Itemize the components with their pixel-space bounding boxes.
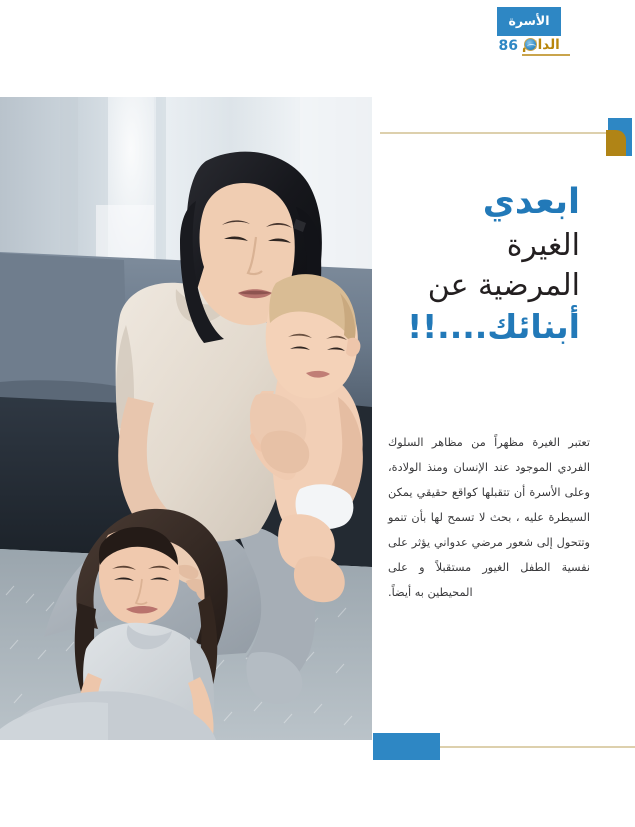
logo-subtext-dots bbox=[522, 54, 570, 57]
bottom-blue-block bbox=[373, 733, 440, 760]
title-line-3: المرضية عن bbox=[382, 271, 580, 302]
bottom-gold-rule bbox=[440, 746, 635, 748]
top-corner-ornament bbox=[608, 118, 634, 158]
article-photo bbox=[0, 97, 372, 740]
section-label: الأسرة bbox=[508, 15, 549, 28]
title-line-2: الغيرة bbox=[382, 231, 580, 262]
globe-icon bbox=[524, 38, 537, 51]
masthead-logo-row: الدائم 86 bbox=[492, 36, 570, 56]
article-photo-illustration bbox=[0, 97, 372, 740]
magazine-logo: الدائم bbox=[522, 37, 570, 56]
magazine-page: الأسرة الدائم 86 bbox=[0, 0, 635, 827]
top-gold-rule bbox=[380, 132, 612, 134]
masthead: الأسرة الدائم 86 bbox=[463, 0, 635, 86]
article-text-column: ابعدي الغيرة المرضية عن أبنائك....!! تعت… bbox=[378, 97, 635, 777]
article-body: تعتبر الغيرة مظهراً من مظاهر السلوك الفر… bbox=[388, 430, 590, 606]
title-line-1: ابعدي bbox=[382, 185, 580, 221]
section-badge: الأسرة bbox=[497, 7, 561, 36]
corner-gold-shape bbox=[606, 130, 626, 156]
article-title: ابعدي الغيرة المرضية عن أبنائك....!! bbox=[382, 185, 580, 344]
title-line-4: أبنائك....!! bbox=[382, 310, 580, 344]
page-number: 86 bbox=[499, 39, 518, 53]
